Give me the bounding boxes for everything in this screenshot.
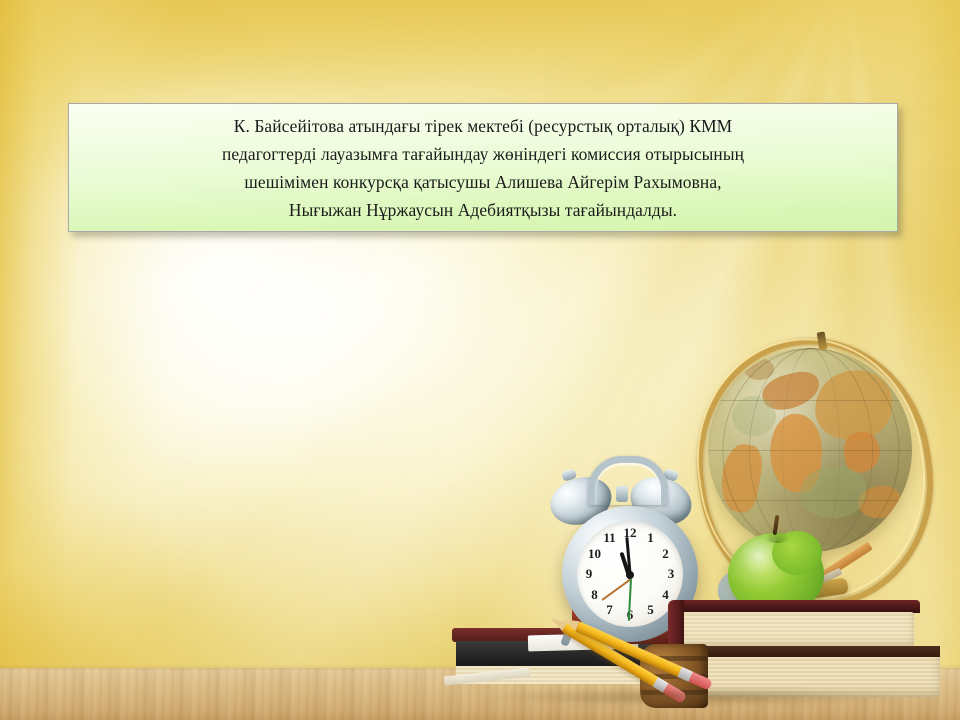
clock-numeral: 7 bbox=[606, 602, 613, 618]
globe-axis-pin bbox=[817, 331, 828, 350]
presentation-slide: 121234567891011 bbox=[0, 0, 960, 720]
clock-handle bbox=[588, 456, 668, 505]
clock-numeral: 5 bbox=[647, 602, 654, 618]
clock-numeral: 8 bbox=[591, 587, 598, 603]
announcement-line-4: Нығыжан Нұржаусын Адебиятқызы тағайындал… bbox=[79, 196, 887, 224]
announcement-line-1: К. Байсейітова атындағы тірек мектебі (р… bbox=[79, 112, 887, 140]
clock-numeral: 2 bbox=[662, 546, 669, 562]
clock-numeral: 9 bbox=[586, 566, 593, 582]
announcement-text: К. Байсейітова атындағы тірек мектебі (р… bbox=[69, 112, 897, 224]
clock-numeral: 4 bbox=[662, 587, 669, 603]
clock-center-pin bbox=[626, 571, 634, 579]
announcement-text-box: К. Байсейітова атындағы тірек мектебі (р… bbox=[68, 103, 898, 232]
announcement-line-2: педагогтерді лауазымға тағайындау жөнінд… bbox=[79, 140, 887, 168]
book-pages bbox=[678, 612, 914, 648]
clock-numeral: 1 bbox=[647, 530, 654, 546]
announcement-line-3: шешімімен конкурсқа қатысушы Алишева Айг… bbox=[79, 168, 887, 196]
objects-cast-shadow bbox=[430, 686, 950, 708]
clock-hammer bbox=[616, 486, 628, 502]
clock-numeral: 10 bbox=[588, 546, 601, 562]
clock-numeral: 3 bbox=[668, 566, 675, 582]
clock-numeral: 11 bbox=[603, 530, 615, 546]
